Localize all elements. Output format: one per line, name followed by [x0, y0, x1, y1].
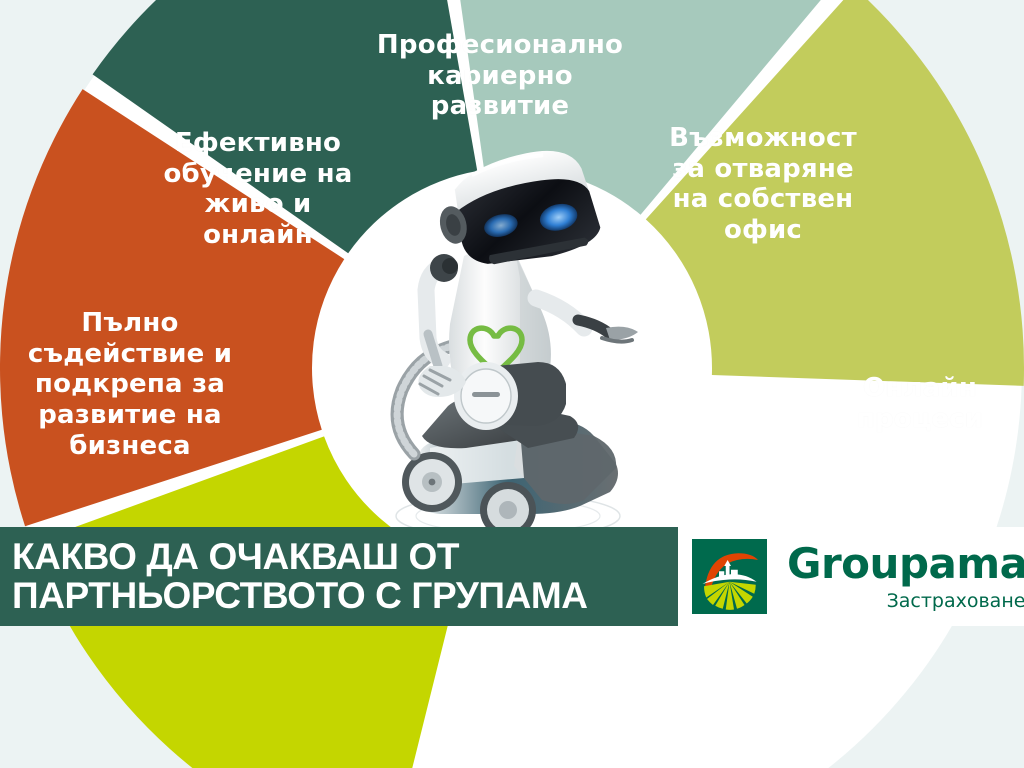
banner-title-line-1: КАКВО ДА ОЧАКВАШ ОТ — [12, 538, 678, 576]
service-robot-illustration — [370, 148, 650, 538]
bottom-banner: КАКВО ДА ОЧАКВАШ ОТ ПАРТНЬОРСТВОТО С ГРУ… — [0, 527, 678, 626]
groupama-subtitle: Застраховане — [887, 592, 1024, 611]
logo-panel: Groupama Застраховане — [678, 527, 1024, 626]
groupama-logo-icon — [692, 539, 767, 614]
banner-title-line-2: ПАРТНЬОРСТВОТО С ГРУПАМА — [12, 577, 678, 615]
groupama-wordmark: Groupama — [787, 543, 1024, 585]
